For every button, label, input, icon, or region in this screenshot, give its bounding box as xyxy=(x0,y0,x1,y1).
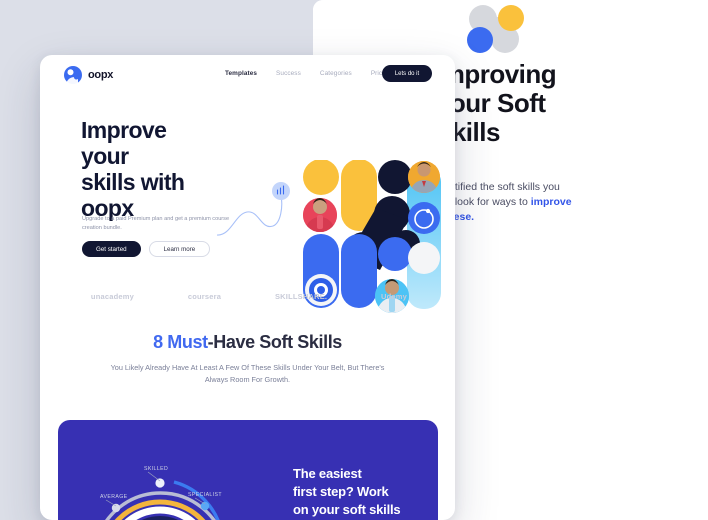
gauge-label-specialist: SPECIALIST xyxy=(188,492,222,498)
decorative-dot-cluster xyxy=(461,3,533,55)
skill-gauge-illustration: BEGINNER AVERAGE SKILLED SPECIALIST EXPE… xyxy=(78,450,243,520)
section-heading-highlight: 8 Must xyxy=(153,332,208,352)
gauge-label-average: AVERAGE xyxy=(100,494,128,500)
navbar: oopx Templates Success Categories Pricin… xyxy=(40,55,455,95)
nav-cta-button[interactable]: Lets do it xyxy=(382,65,432,82)
section-heading: 8 Must-Have Soft Skills xyxy=(40,332,455,353)
nav-link-success[interactable]: Success xyxy=(276,70,301,77)
right-panel-heading: Improving Your Soft Skills xyxy=(435,60,685,147)
brand-logo[interactable]: oopx xyxy=(64,66,113,84)
nav-link-categories[interactable]: Categories xyxy=(320,70,352,77)
oopx-logo-icon xyxy=(64,66,82,84)
main-landing-card: oopx Templates Success Categories Pricin… xyxy=(40,55,455,520)
logo-skillshare: SKILLSHARE. xyxy=(275,292,327,301)
logo-udemy: Udemy xyxy=(381,292,407,301)
right-panel-paragraph: identified the soft skills you lop, look… xyxy=(435,180,685,225)
nav-link-templates[interactable]: Templates xyxy=(225,70,257,77)
partner-logo-strip: unacademy coursera SKILLSHARE. Udemy xyxy=(64,285,434,307)
logo-coursera: coursera xyxy=(188,292,221,301)
hero-paragraph: Upgrade to a paid Premium plan and get a… xyxy=(82,215,232,233)
hero-buttons: Get started Learn more xyxy=(82,241,210,257)
section-subtitle: You Likely Already Have At Least A Few O… xyxy=(100,362,395,386)
get-started-button[interactable]: Get started xyxy=(82,241,141,257)
gauge-label-skilled: SKILLED xyxy=(144,466,168,472)
learn-more-button[interactable]: Learn more xyxy=(149,241,211,257)
blue-promo-band: The easiest first step? Work on your sof… xyxy=(58,420,438,520)
section-heading-rest: -Have Soft Skills xyxy=(208,332,342,352)
blue-band-heading: The easiest first step? Work on your sof… xyxy=(293,465,438,519)
brand-name: oopx xyxy=(88,69,113,81)
decorative-squiggle-line xyxy=(215,180,295,245)
logo-unacademy: unacademy xyxy=(91,292,134,301)
nav-links: Templates Success Categories Pricing xyxy=(225,70,391,77)
